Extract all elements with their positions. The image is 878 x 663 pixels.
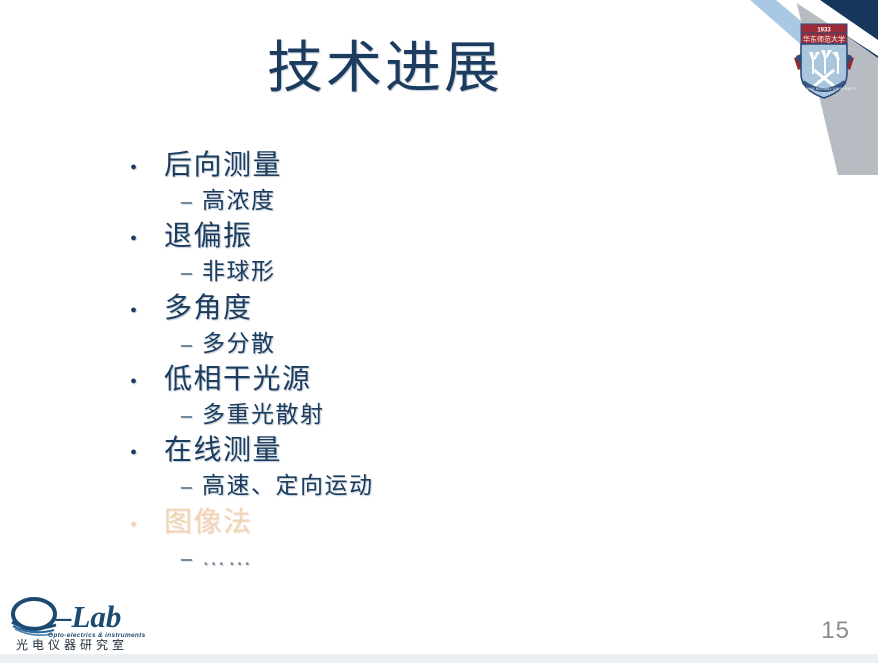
olab-chinese-label: 光电仪器研究室	[16, 637, 128, 651]
dash-marker-icon: –	[126, 333, 202, 355]
bullet-item: • 在线测量	[126, 433, 766, 470]
bullet-marker-icon: •	[126, 158, 164, 178]
bullet-marker-icon: •	[126, 443, 164, 463]
bullet-label: 退偏振	[164, 219, 253, 256]
sub-bullet-item: – 多分散	[126, 329, 766, 359]
bullet-item: • 退偏振	[126, 219, 766, 256]
bullet-item: • 多角度	[126, 291, 766, 328]
sub-bullet-item: – 高速、定向运动	[126, 471, 766, 501]
sub-bullet-label: 高浓度	[202, 186, 276, 216]
bullet-marker-icon: •	[126, 515, 164, 535]
bullet-marker-icon: •	[126, 229, 164, 249]
bullet-label: 后向测量	[164, 148, 282, 185]
sub-bullet-item: – 高浓度	[126, 186, 766, 216]
olab-logo-graphic: –Lab Opto-electrics & instruments 光电仪器研究…	[8, 595, 166, 651]
dash-marker-icon: –	[126, 190, 202, 212]
dash-marker-icon: –	[126, 404, 202, 426]
bullet-label: 图像法	[164, 505, 253, 542]
dash-marker-icon: –	[126, 261, 202, 283]
sub-bullet-label: 非球形	[202, 257, 276, 287]
olab-logo: –Lab Opto-electrics & instruments 光电仪器研究…	[8, 595, 166, 651]
sub-bullet-item: – 多重光散射	[126, 400, 766, 430]
dash-marker-icon: –	[126, 475, 202, 497]
dash-marker-icon: –	[126, 547, 202, 569]
bullet-label: 在线测量	[164, 433, 282, 470]
sub-bullet-label: 多重光散射	[202, 400, 325, 430]
sub-bullet-label: 多分散	[202, 329, 276, 359]
bullet-marker-icon: •	[126, 372, 164, 392]
bullet-marker-icon: •	[126, 301, 164, 321]
bullet-item-faded: • 图像法	[126, 505, 766, 542]
sub-bullet-label: ……	[202, 543, 254, 573]
university-crest-logo: 1933 华东师范大学 EAST CHINA NORMAL UNIVERSITY	[792, 18, 856, 104]
page-number: 15	[821, 617, 850, 645]
slide-canvas: 1933 华东师范大学 EAST CHINA NORMAL UNIVERSITY…	[0, 0, 878, 663]
sub-bullet-item: – 非球形	[126, 257, 766, 287]
sub-bullet-item: – ……	[126, 543, 766, 573]
sub-bullet-label: 高速、定向运动	[202, 471, 374, 501]
olab-wordmark: –Lab	[55, 599, 121, 634]
svg-text:华东师范大学: 华东师范大学	[803, 35, 845, 44]
bullet-label: 低相干光源	[164, 362, 312, 399]
bullet-item: • 低相干光源	[126, 362, 766, 399]
slide-title: 技术进展	[0, 40, 770, 99]
bullet-list: • 后向测量 – 高浓度 • 退偏振 – 非球形 • 多角度 – 多分散 • 低…	[126, 148, 766, 576]
bottom-divider	[0, 654, 878, 663]
bullet-item: • 后向测量	[126, 148, 766, 185]
svg-text:EAST CHINA NORMAL UNIVERSITY: EAST CHINA NORMAL UNIVERSITY	[792, 87, 856, 91]
university-crest-graphic: 1933 华东师范大学 EAST CHINA NORMAL UNIVERSITY	[792, 18, 856, 104]
bullet-label: 多角度	[164, 291, 253, 328]
